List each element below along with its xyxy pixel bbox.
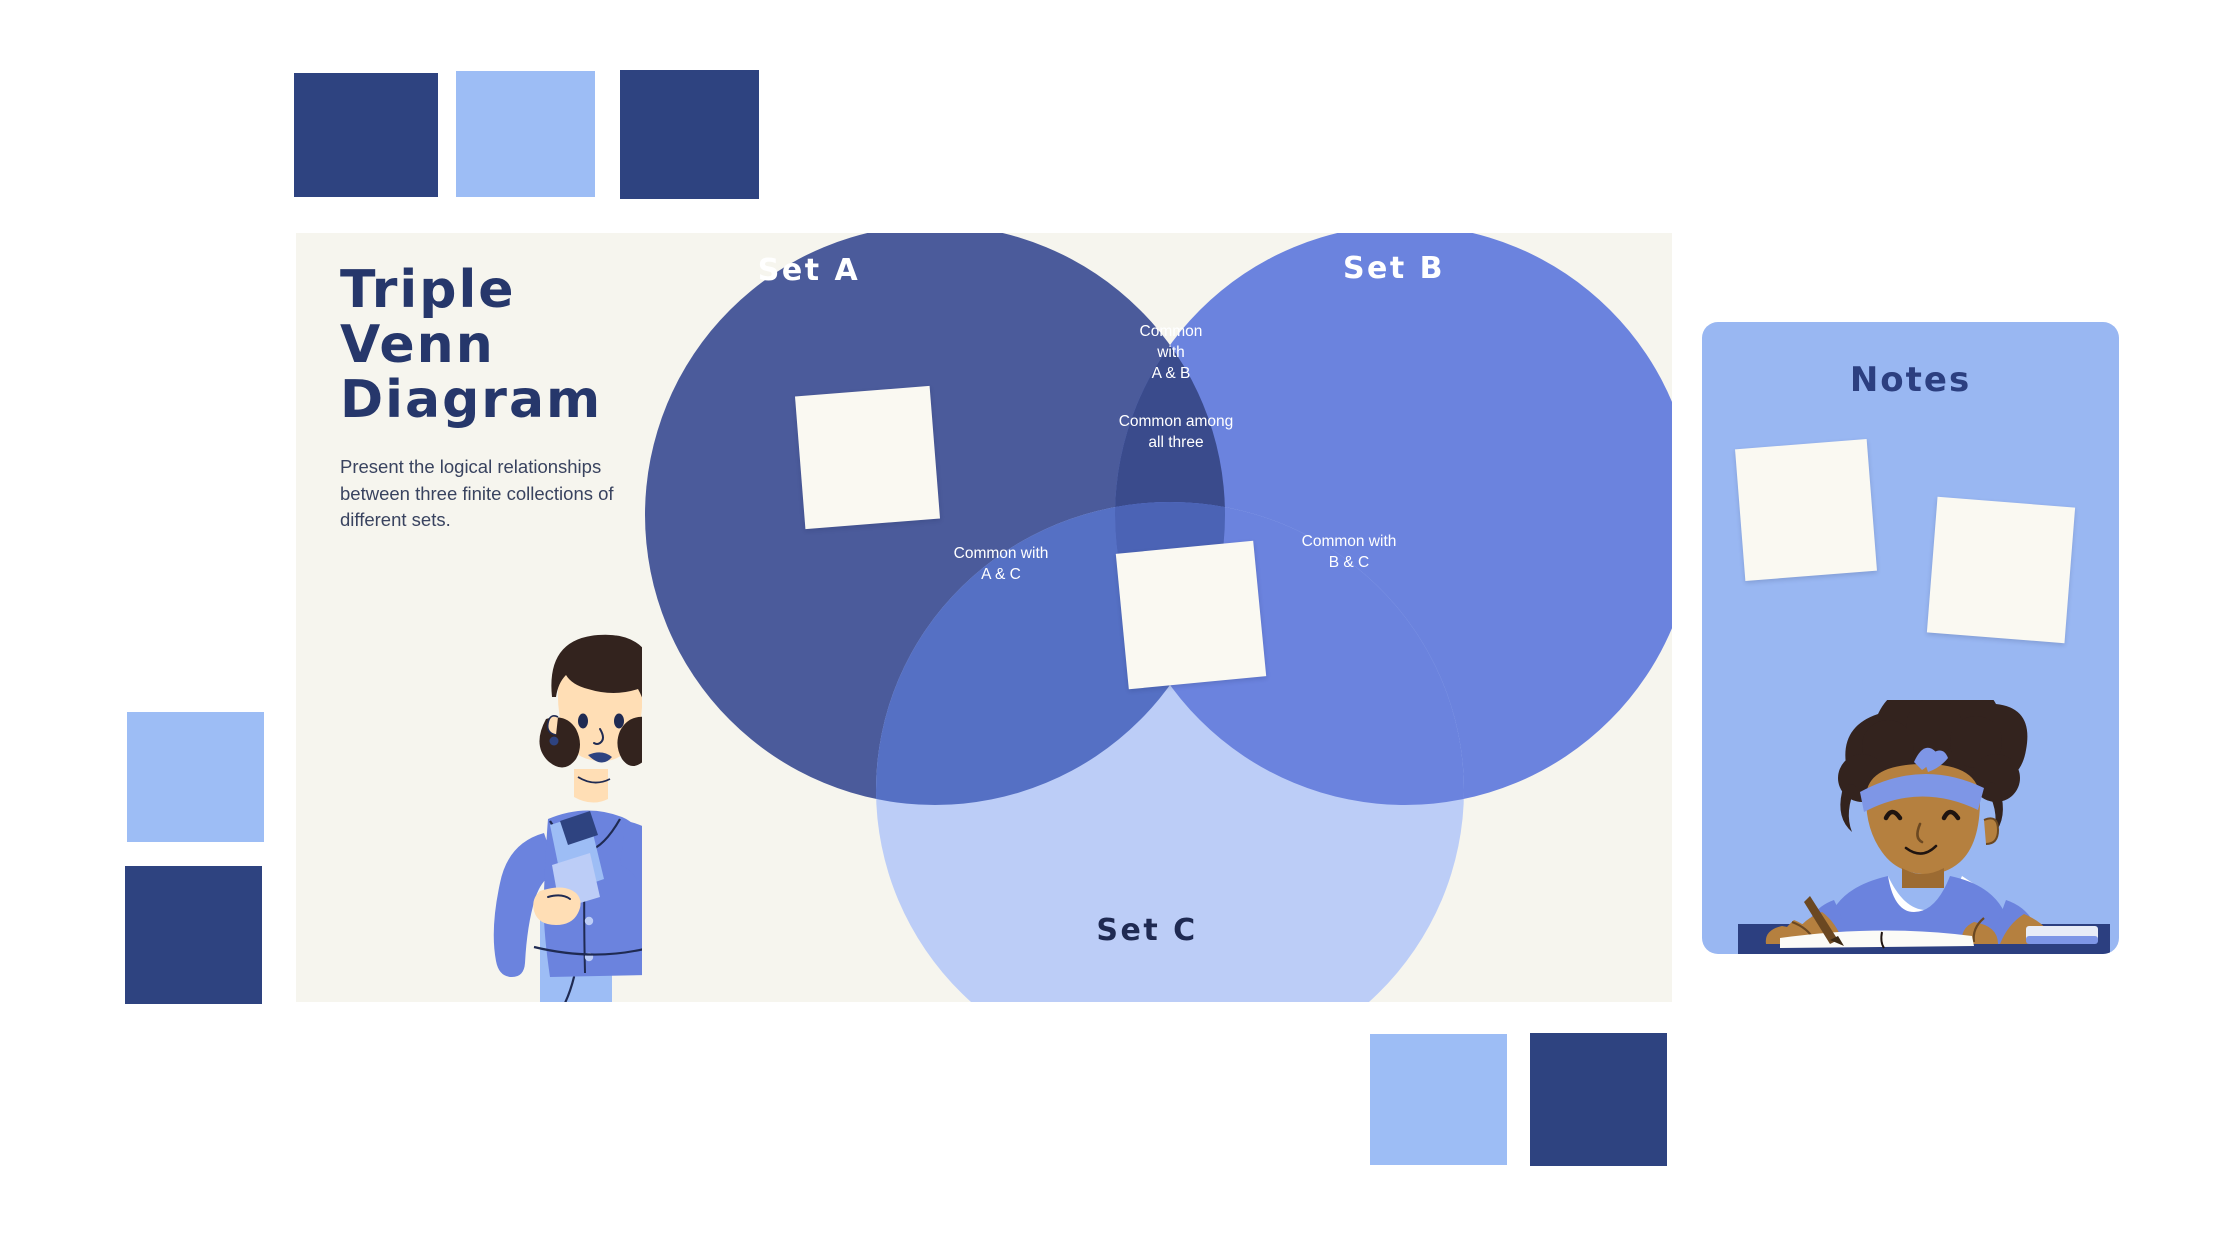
venn-region-label-ab-line2: with (1156, 344, 1185, 361)
venn-region-label-ac-line2: A & C (981, 566, 1021, 583)
venn-region-label-bc-line2: B & C (1329, 554, 1369, 571)
venn-label-set-a-text: Set A (758, 253, 860, 288)
deco-square-top-1 (294, 73, 438, 197)
venn-region-label-ac-line1: Common with (954, 545, 1049, 562)
venn-label-set-c: Set C (1096, 913, 1197, 948)
deco-square-left-2 (125, 866, 262, 1004)
venn-region-label-abc-line1: Common among (1119, 413, 1234, 430)
venn-region-label-ab-line3: A & B (1152, 365, 1191, 382)
deco-square-top-3 (620, 70, 759, 199)
deco-square-left-1 (127, 712, 264, 842)
deco-square-bottom-2 (1530, 1033, 1667, 1166)
venn-diagram: Set A Set B Set C Common with A & B Comm… (296, 233, 1672, 1002)
venn-sticky-note-1[interactable] (795, 386, 940, 529)
student-illustration (1738, 700, 2110, 954)
venn-label-set-b: Set B (1343, 251, 1445, 286)
venn-sticky-note-2[interactable] (1116, 541, 1266, 690)
deco-square-top-2 (456, 71, 595, 197)
slide-canvas: Triple Venn Diagram Present the logical … (0, 0, 2240, 1240)
notes-board: Notes (1702, 322, 2119, 954)
deco-square-bottom-1 (1370, 1034, 1507, 1165)
venn-region-label-abc-line2: all three (1148, 434, 1203, 451)
venn-region-label-ab-line1: Common (1140, 323, 1203, 340)
venn-region-label-bc-line1: Common with (1302, 533, 1397, 550)
main-content-panel: Triple Venn Diagram Present the logical … (296, 233, 1672, 1002)
notes-sticky-note-2[interactable] (1927, 497, 2075, 643)
notes-board-title: Notes (1702, 360, 2119, 400)
notes-sticky-note-1[interactable] (1735, 439, 1877, 581)
